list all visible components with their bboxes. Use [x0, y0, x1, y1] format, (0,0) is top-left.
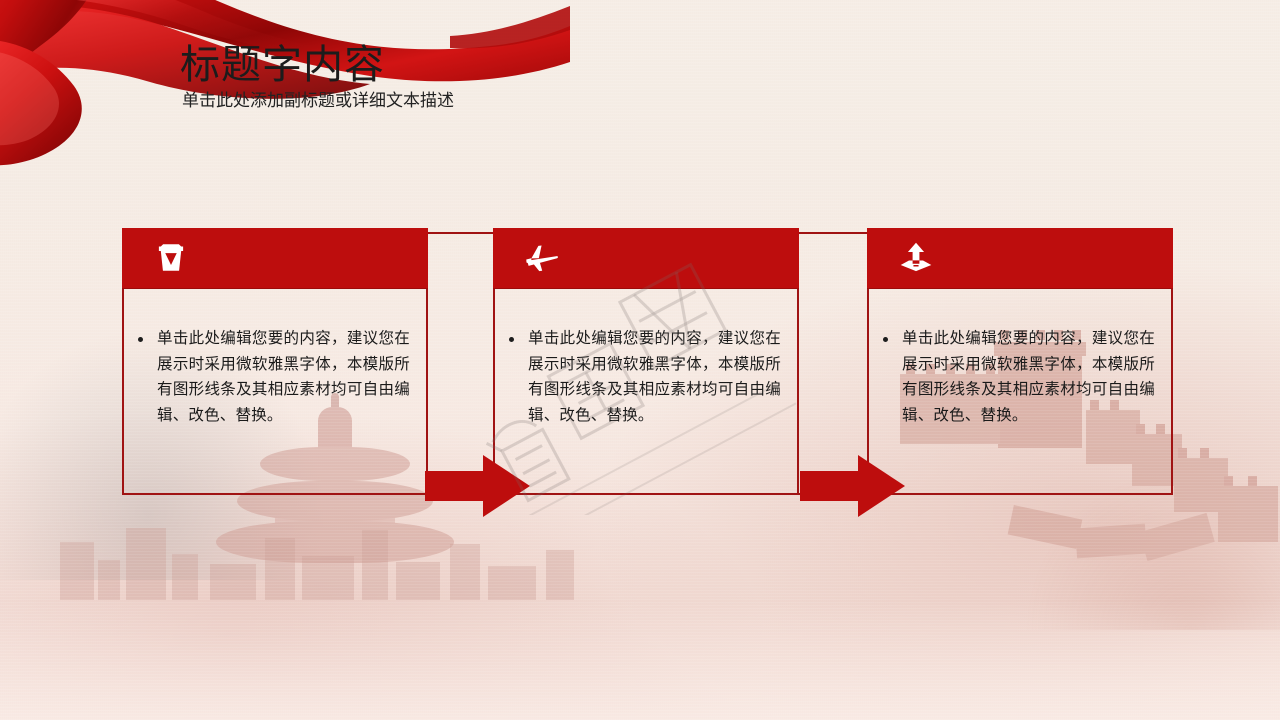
arrow-card1-to-card2 — [425, 455, 530, 517]
card-3-text: 单击此处编辑您要的内容，建议您在展示时采用微软雅黑字体，本模版所有图形线条及其相… — [902, 326, 1155, 428]
airplane-icon — [525, 241, 559, 275]
bullet-dot — [509, 337, 514, 342]
content-card-3[interactable]: 单击此处编辑您要的内容，建议您在展示时采用微软雅黑字体，本模版所有图形线条及其相… — [867, 228, 1173, 495]
card-2-header — [493, 228, 799, 288]
card-2-text: 单击此处编辑您要的内容，建议您在展示时采用微软雅黑字体，本模版所有图形线条及其相… — [528, 326, 781, 428]
cards-container: 单击此处编辑您要的内容，建议您在展示时采用微软雅黑字体，本模版所有图形线条及其相… — [0, 0, 1280, 720]
card-3-body: 单击此处编辑您要的内容，建议您在展示时采用微软雅黑字体，本模版所有图形线条及其相… — [867, 288, 1173, 495]
paint-bucket-icon — [154, 241, 188, 275]
card-2-body: 单击此处编辑您要的内容，建议您在展示时采用微软雅黑字体，本模版所有图形线条及其相… — [493, 288, 799, 495]
bullet-dot — [883, 337, 888, 342]
card-1-text: 单击此处编辑您要的内容，建议您在展示时采用微软雅黑字体，本模版所有图形线条及其相… — [157, 326, 410, 428]
content-card-2[interactable]: 单击此处编辑您要的内容，建议您在展示时采用微软雅黑字体，本模版所有图形线条及其相… — [493, 228, 799, 495]
card-1-header — [122, 228, 428, 288]
arrow-card2-to-card3 — [800, 455, 905, 517]
upload-icon — [899, 241, 933, 275]
bullet-dot — [138, 337, 143, 342]
presentation-slide: 标题字内容 单击此处添加副标题或详细文本描述 单击 — [0, 0, 1280, 720]
content-card-1[interactable]: 单击此处编辑您要的内容，建议您在展示时采用微软雅黑字体，本模版所有图形线条及其相… — [122, 228, 428, 495]
card-3-header — [867, 228, 1173, 288]
card-1-body: 单击此处编辑您要的内容，建议您在展示时采用微软雅黑字体，本模版所有图形线条及其相… — [122, 288, 428, 495]
